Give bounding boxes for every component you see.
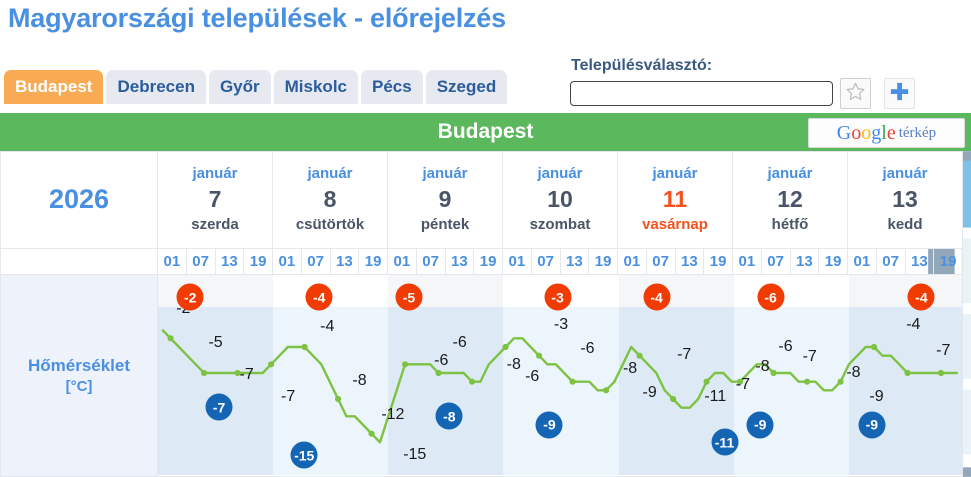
temperature-point-label: -7 bbox=[736, 376, 750, 394]
temperature-point bbox=[335, 396, 341, 402]
temperature-point-label: -8 bbox=[755, 358, 769, 376]
temperature-point bbox=[569, 379, 575, 385]
temperature-point bbox=[904, 370, 910, 376]
hour-cell-group-8: 01071319 bbox=[273, 248, 388, 274]
add-settlement-button[interactable] bbox=[884, 78, 915, 109]
hour-label: 13 bbox=[676, 249, 705, 274]
hour-cell-group-9: 01071319 bbox=[388, 248, 503, 274]
temperature-point-label: -4 bbox=[320, 318, 334, 336]
day-header-row: 2026 január7szerdajanuár8csütörtökjanuár… bbox=[1, 152, 963, 249]
day-weekday: kedd bbox=[848, 214, 962, 237]
day-month: január bbox=[733, 163, 847, 186]
tab-debrecen[interactable]: Debrecen bbox=[106, 70, 205, 104]
daily-max-badge: -2 bbox=[177, 284, 204, 311]
day-number: 13 bbox=[848, 185, 962, 214]
day-number: 8 bbox=[273, 185, 387, 214]
temperature-point bbox=[502, 344, 508, 350]
hour-label: 13 bbox=[561, 249, 590, 274]
day-month: január bbox=[848, 163, 962, 186]
hour-cell-group-10: 01071319 bbox=[503, 248, 618, 274]
hour-label: 01 bbox=[618, 249, 647, 274]
favorite-star-button[interactable] bbox=[840, 78, 871, 109]
temperature-point bbox=[435, 370, 441, 376]
daily-min-badge: -9 bbox=[536, 411, 563, 438]
tab-pécs[interactable]: Pécs bbox=[361, 70, 423, 104]
daily-min-badge: -15 bbox=[291, 442, 318, 469]
temperature-point-label: -4 bbox=[906, 316, 920, 334]
daily-max-badge: -4 bbox=[908, 284, 935, 311]
temperature-point-label: -11 bbox=[704, 388, 726, 406]
temperature-unit-text: [°C] bbox=[1, 378, 157, 395]
hour-row-spacer bbox=[1, 248, 158, 274]
temperature-point bbox=[469, 379, 475, 385]
hour-label: 01 bbox=[503, 249, 532, 274]
daily-min-badge: -8 bbox=[436, 403, 463, 430]
hour-label: 07 bbox=[417, 249, 446, 274]
hour-label: 01 bbox=[158, 249, 187, 274]
temperature-point-label: -9 bbox=[643, 384, 657, 402]
google-map-label: térkép bbox=[899, 125, 936, 142]
day-month: január bbox=[503, 163, 617, 186]
settlement-search-input[interactable] bbox=[570, 81, 833, 106]
daily-min-badge: -11 bbox=[711, 429, 738, 456]
hour-label: 01 bbox=[848, 249, 877, 274]
temperature-point bbox=[770, 370, 776, 376]
page-root: Magyarországi települések - előrejelzés … bbox=[0, 0, 971, 477]
daily-max-badge: -5 bbox=[396, 284, 423, 311]
temperature-point bbox=[837, 379, 843, 385]
temperature-point bbox=[703, 379, 709, 385]
temperature-point-label: -8 bbox=[623, 360, 637, 378]
day-month: január bbox=[388, 163, 502, 186]
hour-cell-group-12: 01071319 bbox=[733, 248, 848, 274]
temperature-point-label: -7 bbox=[803, 348, 817, 366]
hour-label: 07 bbox=[762, 249, 791, 274]
day-month: január bbox=[618, 163, 732, 186]
temperature-point bbox=[301, 344, 307, 350]
temperature-point-label: -6 bbox=[778, 338, 792, 356]
forecast-table: 2026 január7szerdajanuár8csütörtökjanuár… bbox=[0, 151, 963, 477]
temperature-point bbox=[670, 396, 676, 402]
hour-label: 01 bbox=[733, 249, 762, 274]
day-month: január bbox=[273, 163, 387, 186]
tab-miskolc[interactable]: Miskolc bbox=[274, 70, 358, 104]
temperature-point-label: -8 bbox=[352, 372, 366, 390]
temperature-point-label: -15 bbox=[403, 446, 426, 464]
day-header-11: január11vasárnap bbox=[618, 152, 733, 249]
hour-header-row: 0107131901071319010713190107131901071319… bbox=[1, 248, 963, 274]
temperature-label-text: Hőmérséklet bbox=[1, 355, 157, 378]
temperature-point bbox=[268, 362, 274, 368]
day-weekday: péntek bbox=[388, 214, 502, 237]
day-number: 11 bbox=[618, 185, 732, 214]
day-header-7: január7szerda bbox=[158, 152, 273, 249]
hour-cell-group-11: 01071319 bbox=[618, 248, 733, 274]
temperature-row-label: Hőmérséklet [°C] bbox=[1, 274, 158, 476]
daily-min-badge: -9 bbox=[858, 411, 885, 438]
hour-label: 19 bbox=[589, 249, 617, 274]
day-weekday: vasárnap bbox=[618, 214, 732, 237]
hour-label: 13 bbox=[331, 249, 360, 274]
temperature-point bbox=[167, 336, 173, 342]
page-title: Magyarországi települések - előrejelzés bbox=[8, 3, 506, 34]
daily-max-badge: -3 bbox=[544, 284, 571, 311]
day-header-13: január13kedd bbox=[848, 152, 963, 249]
daily-min-badge: -9 bbox=[747, 411, 774, 438]
hour-label: 19 bbox=[359, 249, 387, 274]
temperature-point bbox=[402, 362, 408, 368]
temperature-point-label: -7 bbox=[281, 388, 295, 406]
day-number: 12 bbox=[733, 185, 847, 214]
hour-label: 13 bbox=[216, 249, 245, 274]
hour-cell-group-13: 01071319 bbox=[848, 248, 963, 274]
temperature-point bbox=[536, 353, 542, 359]
temperature-chart-cell: -2-5-7-7-4-8-12-15-6-6-8-6-3-6-8-9-7-11-… bbox=[158, 274, 963, 476]
temperature-point-label: -5 bbox=[208, 334, 222, 352]
hour-label: 07 bbox=[187, 249, 216, 274]
settlement-selector-label: Településválasztó: bbox=[571, 57, 712, 75]
hour-label: 19 bbox=[474, 249, 502, 274]
hour-label: 07 bbox=[532, 249, 561, 274]
tab-győr[interactable]: Győr bbox=[209, 70, 271, 104]
hour-label: 07 bbox=[302, 249, 331, 274]
daily-max-badge: -4 bbox=[306, 284, 333, 311]
temperature-point bbox=[368, 431, 374, 437]
temperature-point bbox=[804, 379, 810, 385]
google-logo: Google bbox=[837, 123, 896, 143]
day-weekday: szerda bbox=[158, 214, 272, 237]
temperature-chart[interactable]: -2-5-7-7-4-8-12-15-6-6-8-6-3-6-8-9-7-11-… bbox=[158, 275, 962, 475]
hour-label: 07 bbox=[877, 249, 906, 274]
google-map-button[interactable]: Google térkép bbox=[808, 118, 965, 148]
hour-cell-group-7: 01071319 bbox=[158, 248, 273, 274]
temperature-point bbox=[603, 388, 609, 394]
day-header-9: január9péntek bbox=[388, 152, 503, 249]
temperature-point-label: -12 bbox=[381, 406, 404, 424]
temperature-point-label: -9 bbox=[869, 388, 883, 406]
day-weekday: hétfő bbox=[733, 214, 847, 237]
daily-max-badge: -6 bbox=[757, 284, 784, 311]
temperature-point-label: -8 bbox=[507, 356, 521, 374]
temperature-point bbox=[201, 370, 207, 376]
temperature-point bbox=[938, 370, 944, 376]
temperature-point-label: -6 bbox=[434, 352, 448, 370]
star-icon bbox=[845, 81, 866, 107]
temperature-point-label: -3 bbox=[554, 316, 568, 334]
tab-budapest[interactable]: Budapest bbox=[4, 70, 103, 104]
tab-szeged[interactable]: Szeged bbox=[426, 70, 508, 104]
hour-label: 19 bbox=[934, 249, 962, 274]
temperature-row: Hőmérséklet [°C] -2-5-7-7-4-8-12-15-6-6-… bbox=[1, 274, 963, 476]
hour-label: 13 bbox=[906, 249, 935, 274]
day-number: 7 bbox=[158, 185, 272, 214]
hour-label: 13 bbox=[446, 249, 475, 274]
daily-max-badge: -4 bbox=[643, 284, 670, 311]
day-weekday: szombat bbox=[503, 214, 617, 237]
temperature-point-label: -7 bbox=[240, 366, 254, 384]
hour-label: 13 bbox=[791, 249, 820, 274]
temperature-point bbox=[871, 344, 877, 350]
temperature-point-label: -7 bbox=[936, 342, 950, 360]
hour-label: 01 bbox=[388, 249, 417, 274]
day-header-8: január8csütörtök bbox=[273, 152, 388, 249]
temperature-point-label: -7 bbox=[677, 346, 691, 364]
temperature-point bbox=[636, 353, 642, 359]
hour-label: 01 bbox=[273, 249, 302, 274]
day-number: 10 bbox=[503, 185, 617, 214]
temperature-point-label: -6 bbox=[453, 334, 467, 352]
day-header-12: január12hétfő bbox=[733, 152, 848, 249]
day-number: 9 bbox=[388, 185, 502, 214]
hour-label: 07 bbox=[647, 249, 676, 274]
day-weekday: csütörtök bbox=[273, 214, 387, 237]
plus-icon bbox=[888, 80, 911, 108]
day-header-10: január10szombat bbox=[503, 152, 618, 249]
hour-label: 19 bbox=[244, 249, 272, 274]
temperature-point-label: -8 bbox=[846, 364, 860, 382]
year-cell: 2026 bbox=[1, 152, 158, 249]
hour-label: 19 bbox=[704, 249, 732, 274]
temperature-point-label: -6 bbox=[525, 368, 539, 386]
hour-label: 19 bbox=[819, 249, 847, 274]
day-month: január bbox=[158, 163, 272, 186]
city-tabs: BudapestDebrecenGyőrMiskolcPécsSzeged bbox=[4, 70, 507, 104]
daily-min-badge: -7 bbox=[206, 394, 233, 421]
temperature-point-label: -6 bbox=[580, 340, 594, 358]
